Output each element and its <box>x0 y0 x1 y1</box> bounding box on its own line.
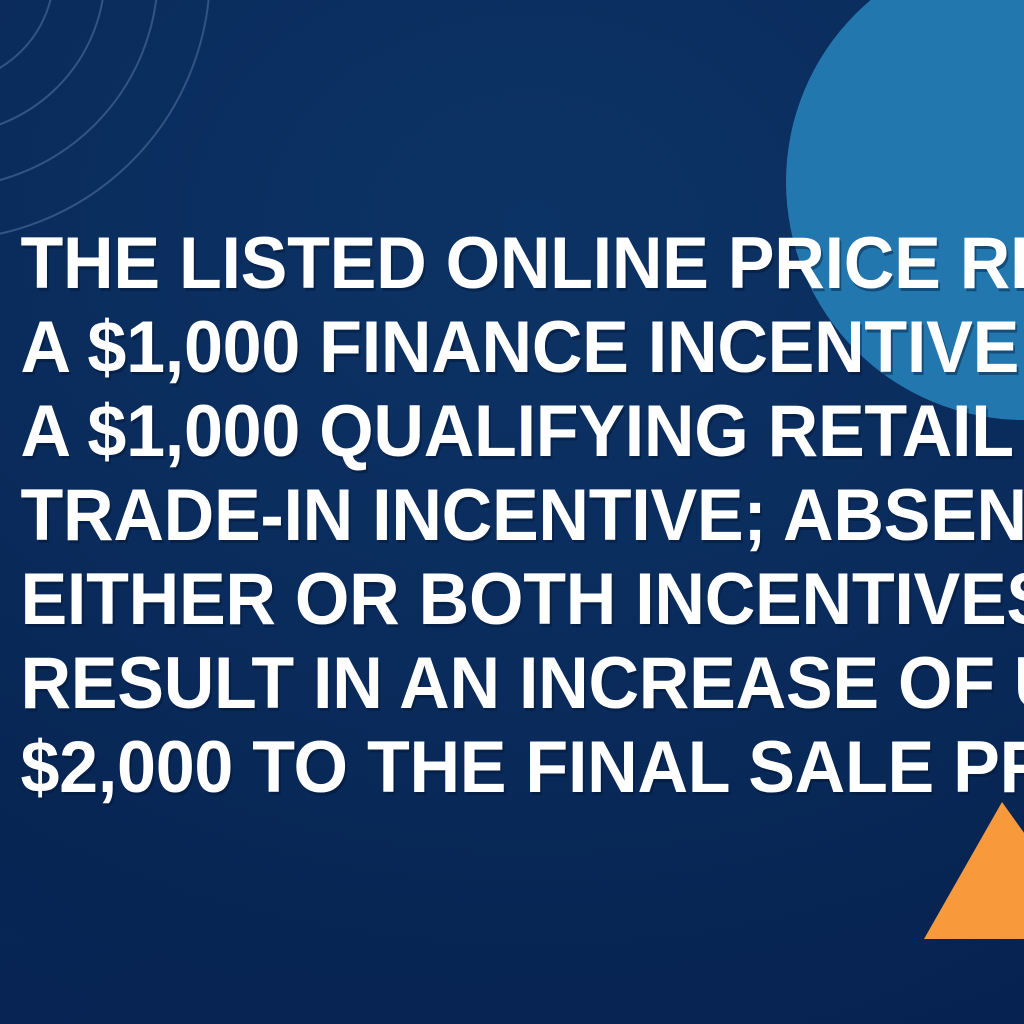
disclaimer-line-1: THE LISTED ONLINE PRICE REFLECTS <box>20 222 1003 306</box>
graphic-canvas: THE LISTED ONLINE PRICE REFLECTS A $1,00… <box>0 0 1024 1024</box>
disclaimer-line-5: EITHER OR BOTH INCENTIVES WILL <box>20 558 1003 642</box>
disclaimer-line-4: TRADE-IN INCENTIVE; ABSENCE OF <box>20 474 1003 558</box>
disclaimer-line-2: A $1,000 FINANCE INCENTIVE AND <box>20 306 1003 390</box>
disclaimer-headline: THE LISTED ONLINE PRICE REFLECTS A $1,00… <box>20 222 1003 810</box>
disclaimer-line-3: A $1,000 QUALIFYING RETAIL <box>20 390 1003 474</box>
disclaimer-line-6: RESULT IN AN INCREASE OF UP TO <box>20 642 1003 726</box>
disclaimer-line-7: $2,000 TO THE FINAL SALE PRICE. <box>20 726 1003 810</box>
